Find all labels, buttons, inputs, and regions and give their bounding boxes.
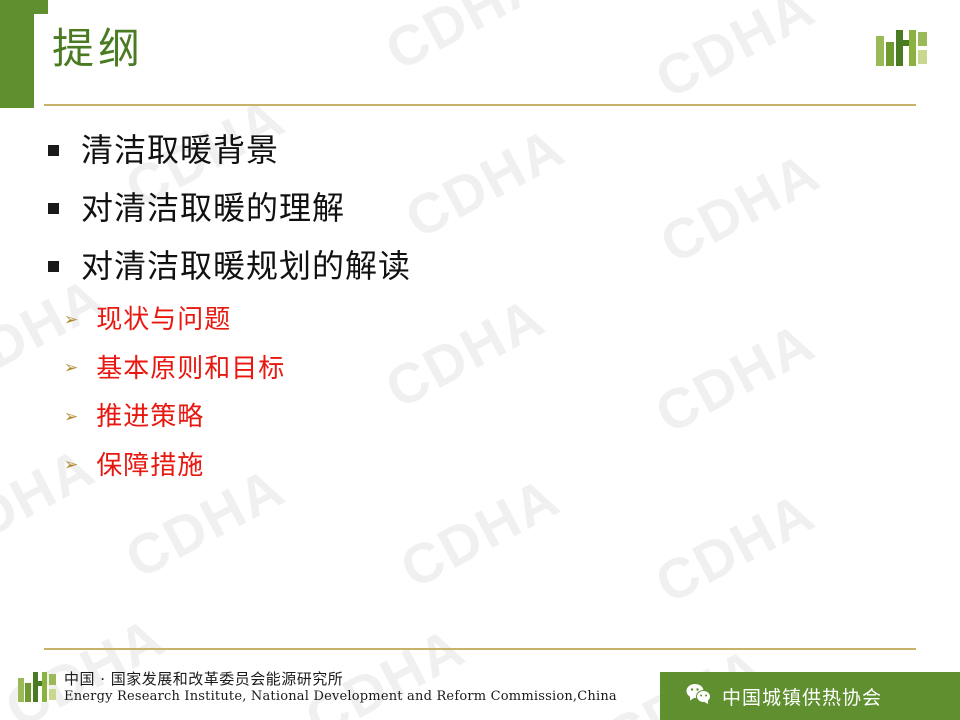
- eri-logo-icon: [18, 672, 58, 708]
- slide: CDHACDHACDHACDHACDHACDHACDHACDHACDHACDHA…: [0, 0, 960, 720]
- wechat-label: 中国城镇供热协会: [722, 683, 882, 710]
- watermark-text: CDHA: [645, 479, 825, 616]
- list-item[interactable]: 对清洁取暖规划的解读: [38, 246, 918, 286]
- footer-org: 中国 · 国家发展和改革委员会能源研究所 Energy Research Ins…: [64, 670, 617, 705]
- footer-org-cn: 中国 · 国家发展和改革委员会能源研究所: [64, 670, 617, 689]
- arrow-bullet-icon: ➢: [64, 457, 78, 474]
- square-bullet-icon: [48, 145, 59, 156]
- sub-list-item-label: 保障措施: [96, 450, 204, 483]
- list-item-label: 对清洁取暖的理解: [81, 188, 345, 228]
- list-item[interactable]: 清洁取暖背景: [38, 130, 918, 170]
- footer-divider: [44, 648, 916, 650]
- square-bullet-icon: [48, 203, 59, 214]
- arrow-bullet-icon: ➢: [64, 312, 78, 329]
- sub-list-item[interactable]: ➢ 现状与问题: [38, 304, 918, 337]
- sub-list-item-label: 基本原则和目标: [96, 353, 285, 386]
- list-item-label: 清洁取暖背景: [81, 130, 279, 170]
- corner-accent-left: [0, 0, 34, 108]
- outline-list: 清洁取暖背景 对清洁取暖的理解 对清洁取暖规划的解读 ➢ 现状与问题 ➢ 基本原…: [38, 130, 918, 498]
- list-item[interactable]: 对清洁取暖的理解: [38, 188, 918, 228]
- square-bullet-icon: [48, 261, 59, 272]
- wechat-banner[interactable]: 中国城镇供热协会: [660, 672, 960, 720]
- wechat-icon: [686, 683, 712, 710]
- sub-list-item-label: 推进策略: [96, 401, 204, 434]
- watermark-text: CDHA: [375, 0, 555, 83]
- list-item-label: 对清洁取暖规划的解读: [81, 246, 411, 286]
- title-area: 提纲: [52, 28, 144, 70]
- sub-list-item-label: 现状与问题: [96, 304, 231, 337]
- sub-list-item[interactable]: ➢ 推进策略: [38, 401, 918, 434]
- watermark-text: CDHA: [645, 0, 825, 111]
- arrow-bullet-icon: ➢: [64, 360, 78, 377]
- corner-accent-left-tab: [34, 0, 48, 14]
- sub-list-item[interactable]: ➢ 基本原则和目标: [38, 353, 918, 386]
- sub-list-item[interactable]: ➢ 保障措施: [38, 450, 918, 483]
- title-divider: [44, 104, 916, 106]
- footer-org-en: Energy Research Institute, National Deve…: [64, 689, 617, 705]
- page-title: 提纲: [52, 28, 144, 70]
- arrow-bullet-icon: ➢: [64, 409, 78, 426]
- eri-logo-icon: [876, 30, 932, 74]
